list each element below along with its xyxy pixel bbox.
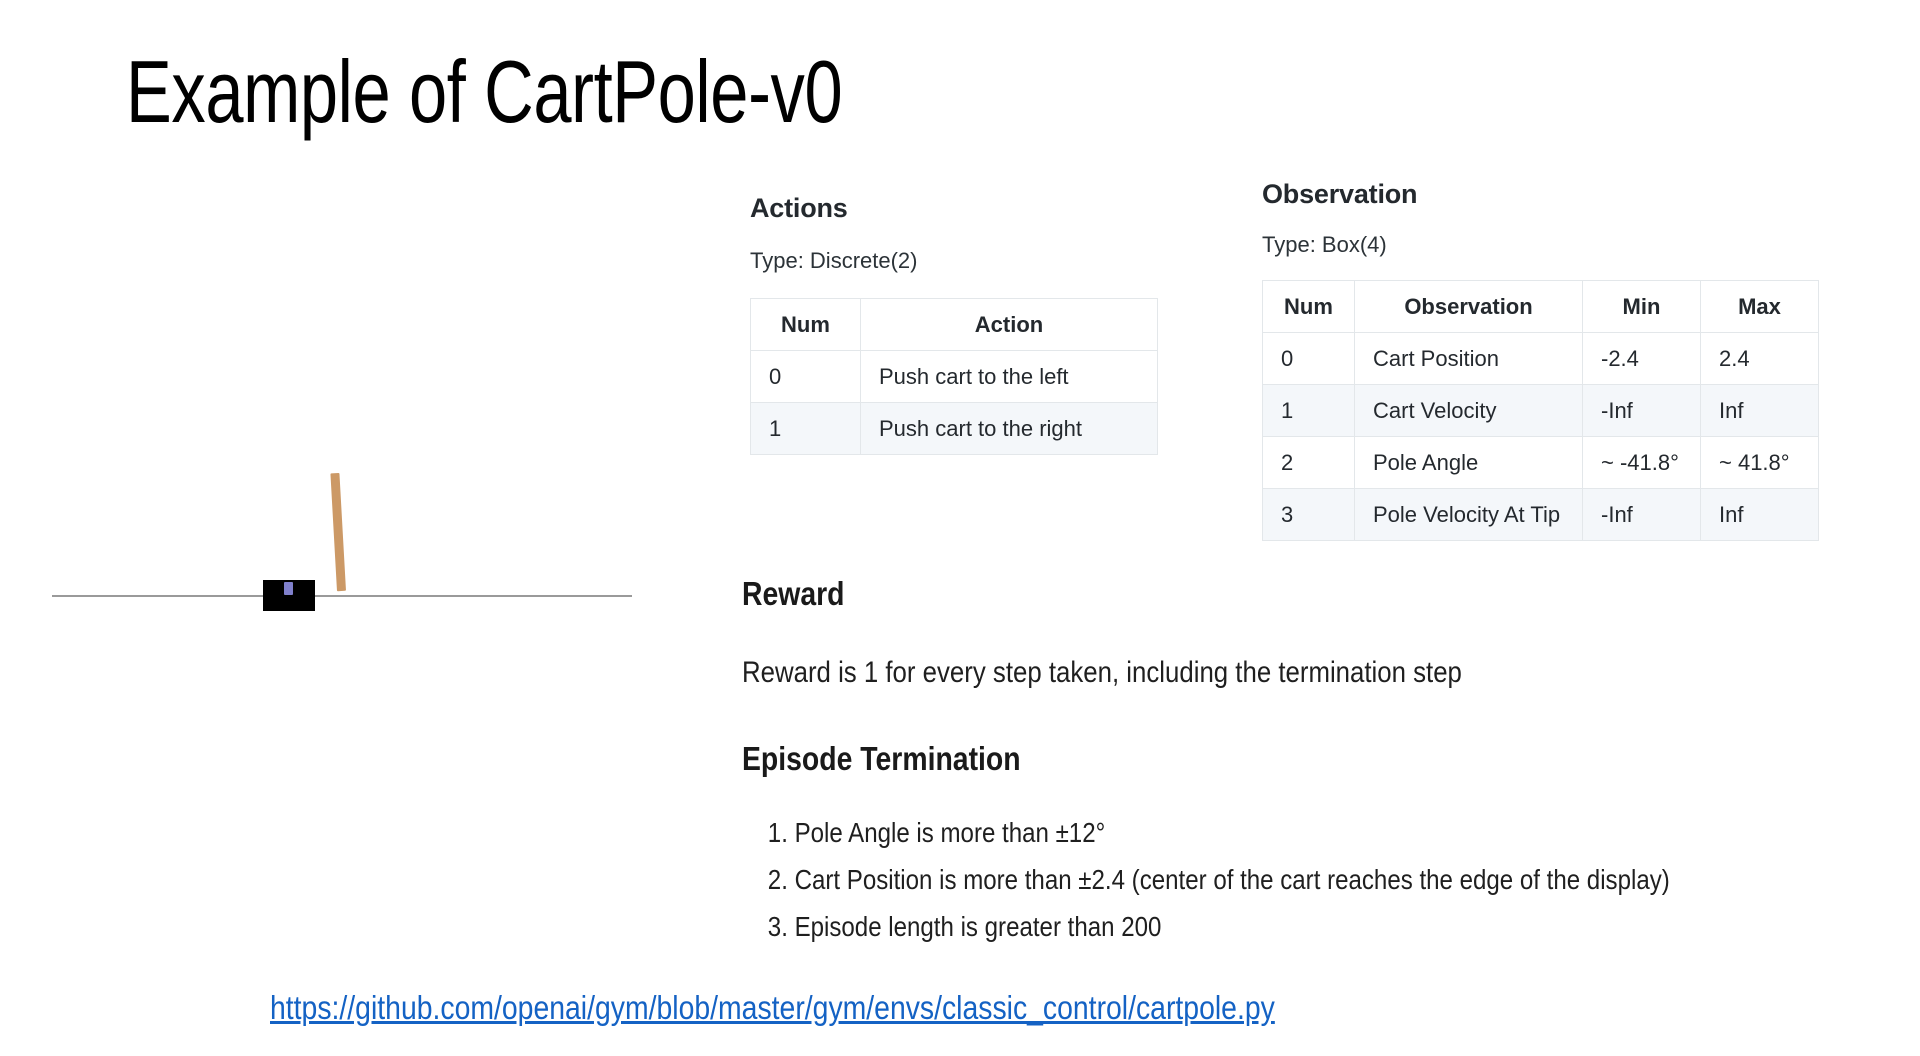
cartpole-track-line [52, 595, 632, 597]
list-item: 3. Episode length is greater than 200 [742, 910, 1688, 944]
observation-table: Num Observation Min Max 0 Cart Position … [1262, 280, 1819, 541]
actions-type-label: Type: Discrete(2) [750, 248, 1170, 274]
table-row: 0 Push cart to the left [751, 351, 1158, 403]
page-title: Example of CartPole-v0 [126, 42, 842, 142]
reward-heading: Reward [742, 575, 1602, 613]
observation-cell-num: 3 [1263, 489, 1355, 541]
episode-termination-list: 1. Pole Angle is more than ±12° 2. Cart … [742, 816, 1842, 944]
table-row: 0 Cart Position -2.4 2.4 [1263, 333, 1819, 385]
actions-heading: Actions [750, 192, 1170, 224]
actions-cell-num: 1 [751, 403, 861, 455]
observation-col-header-observation: Observation [1355, 281, 1583, 333]
reward-section: Reward Reward is 1 for every step taken,… [742, 575, 1742, 691]
table-row: 2 Pole Angle ~ -41.8° ~ 41.8° [1263, 437, 1819, 489]
observation-cell-observation: Pole Angle [1355, 437, 1583, 489]
observation-cell-min: -2.4 [1583, 333, 1701, 385]
observation-cell-min: -Inf [1583, 385, 1701, 437]
observation-col-header-min: Min [1583, 281, 1701, 333]
actions-cell-action: Push cart to the right [861, 403, 1158, 455]
observation-col-header-max: Max [1701, 281, 1819, 333]
observation-cell-num: 2 [1263, 437, 1355, 489]
reward-description: Reward is 1 for every step taken, includ… [742, 655, 1602, 691]
observation-cell-observation: Cart Velocity [1355, 385, 1583, 437]
episode-termination-heading: Episode Termination [742, 740, 1688, 778]
observation-heading: Observation [1262, 178, 1822, 210]
table-header-row: Num Action [751, 299, 1158, 351]
table-row: 1 Push cart to the right [751, 403, 1158, 455]
actions-table: Num Action 0 Push cart to the left 1 Pus… [750, 298, 1158, 455]
observation-section: Observation Type: Box(4) Num Observation… [1262, 178, 1822, 541]
actions-col-header-action: Action [861, 299, 1158, 351]
list-item: 2. Cart Position is more than ±2.4 (cent… [742, 863, 1688, 897]
observation-cell-max: ~ 41.8° [1701, 437, 1819, 489]
cartpole-axle [284, 582, 293, 595]
cartpole-rendering [40, 440, 660, 640]
source-url-link[interactable]: https://github.com/openai/gym/blob/maste… [270, 988, 1275, 1028]
observation-cell-max: Inf [1701, 385, 1819, 437]
cartpole-pole [330, 473, 346, 591]
observation-cell-max: 2.4 [1701, 333, 1819, 385]
observation-cell-num: 1 [1263, 385, 1355, 437]
observation-cell-max: Inf [1701, 489, 1819, 541]
observation-col-header-num: Num [1263, 281, 1355, 333]
observation-cell-min: ~ -41.8° [1583, 437, 1701, 489]
observation-cell-num: 0 [1263, 333, 1355, 385]
episode-termination-section: Episode Termination 1. Pole Angle is mor… [742, 740, 1842, 957]
actions-cell-num: 0 [751, 351, 861, 403]
observation-cell-observation: Cart Position [1355, 333, 1583, 385]
table-header-row: Num Observation Min Max [1263, 281, 1819, 333]
actions-col-header-num: Num [751, 299, 861, 351]
actions-section: Actions Type: Discrete(2) Num Action 0 P… [750, 192, 1170, 455]
observation-cell-min: -Inf [1583, 489, 1701, 541]
list-item: 1. Pole Angle is more than ±12° [742, 816, 1688, 850]
table-row: 3 Pole Velocity At Tip -Inf Inf [1263, 489, 1819, 541]
actions-cell-action: Push cart to the left [861, 351, 1158, 403]
observation-cell-observation: Pole Velocity At Tip [1355, 489, 1583, 541]
table-row: 1 Cart Velocity -Inf Inf [1263, 385, 1819, 437]
observation-type-label: Type: Box(4) [1262, 232, 1822, 258]
